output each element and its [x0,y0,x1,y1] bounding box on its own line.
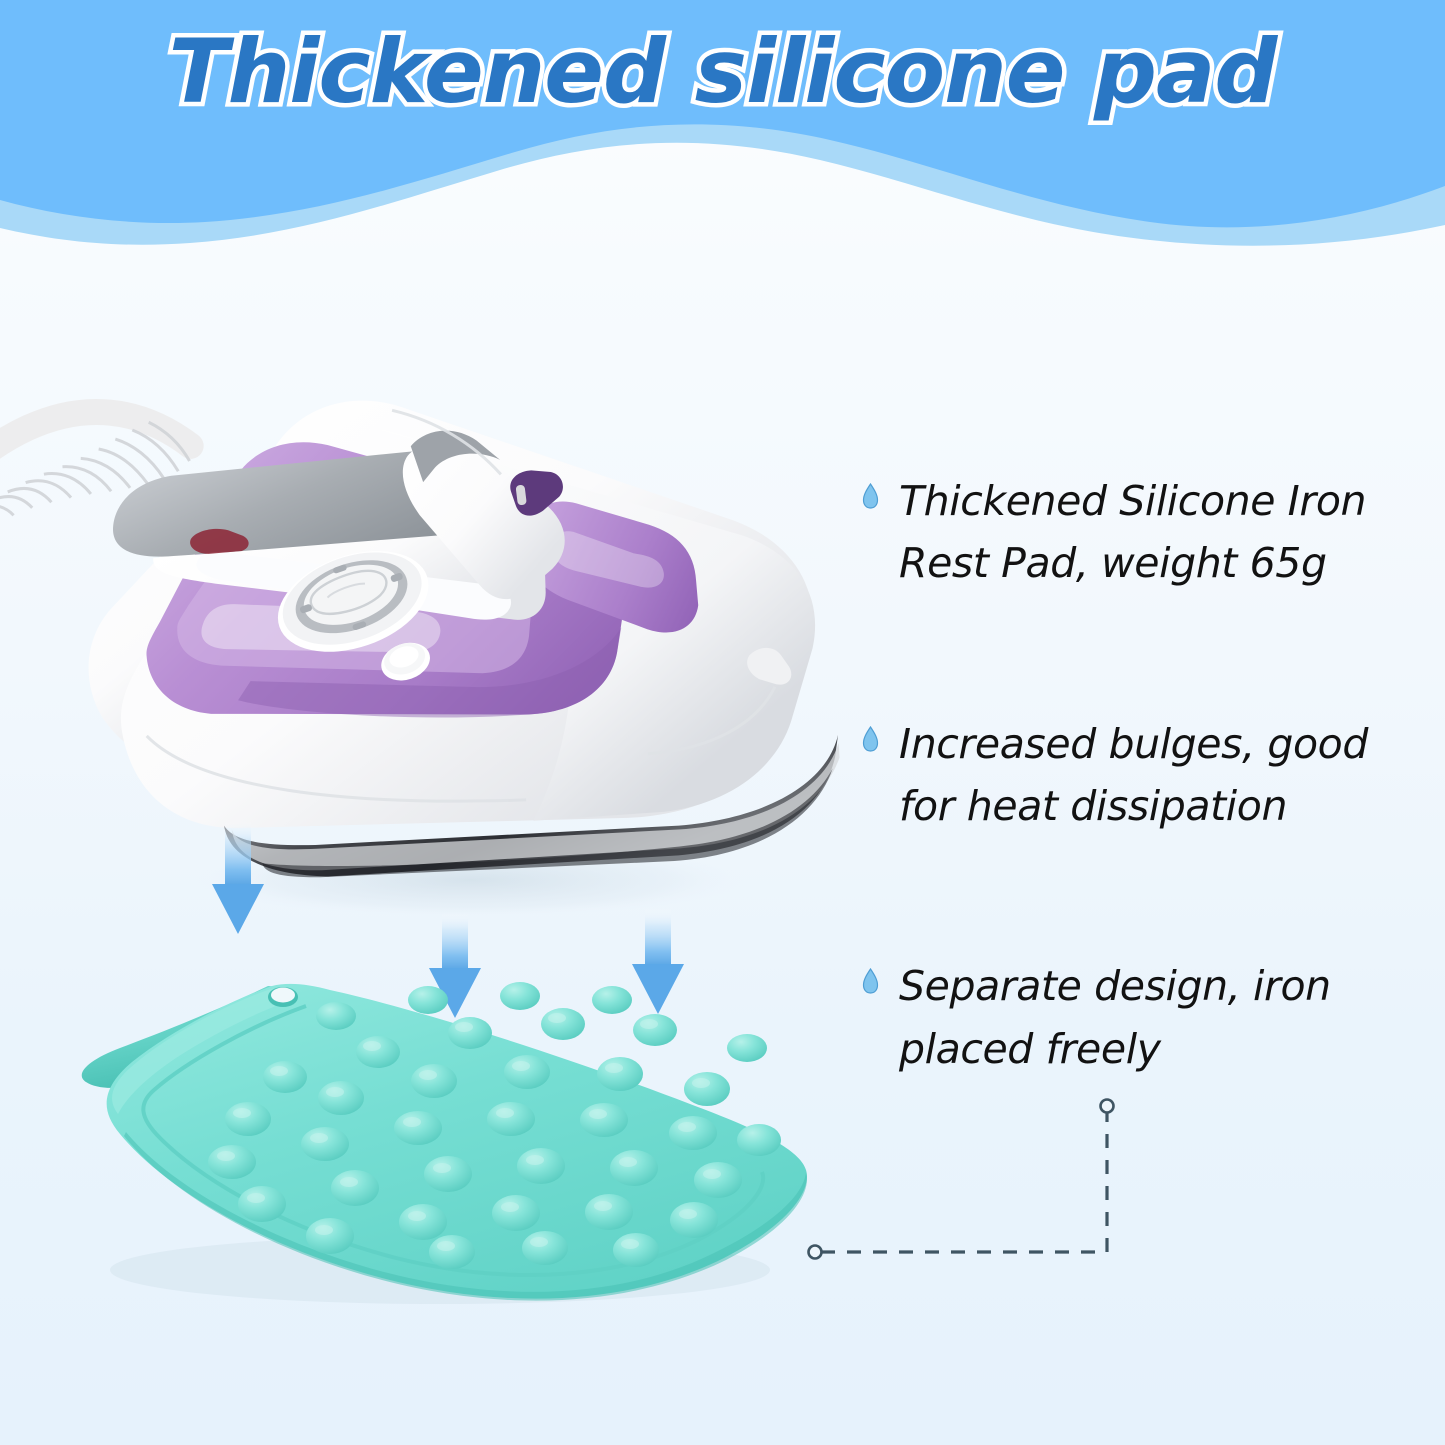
feature-item-2: Increased bulges, good for heat dissipat… [862,713,1422,838]
feature-item-1: Thickened Silicone Iron Rest Pad, weight… [862,470,1422,595]
feature-item-3: Separate design, iron placed freely [862,955,1422,1080]
water-drop-icon [862,726,879,752]
steam-iron [0,204,881,1067]
infographic-canvas: Thickened silicone pad [0,0,1445,1445]
water-drop-icon [862,483,879,509]
feature-text: Separate design, iron placed freely [899,955,1419,1080]
feature-list: Thickened Silicone Iron Rest Pad, weight… [862,470,1422,1080]
silicone-iron-rest-pad [82,982,807,1304]
down-arrow-3 [632,908,684,1014]
feature-text: Increased bulges, good for heat dissipat… [899,713,1419,838]
feature-text: Thickened Silicone Iron Rest Pad, weight… [899,470,1419,595]
callout-path [821,1112,1107,1252]
callout-endpoint-end [1101,1100,1114,1113]
water-drop-icon [862,968,879,994]
dimension-callout-line [795,1090,1135,1280]
pad-hanging-hole [268,987,298,1007]
callout-endpoint-start [809,1246,822,1259]
